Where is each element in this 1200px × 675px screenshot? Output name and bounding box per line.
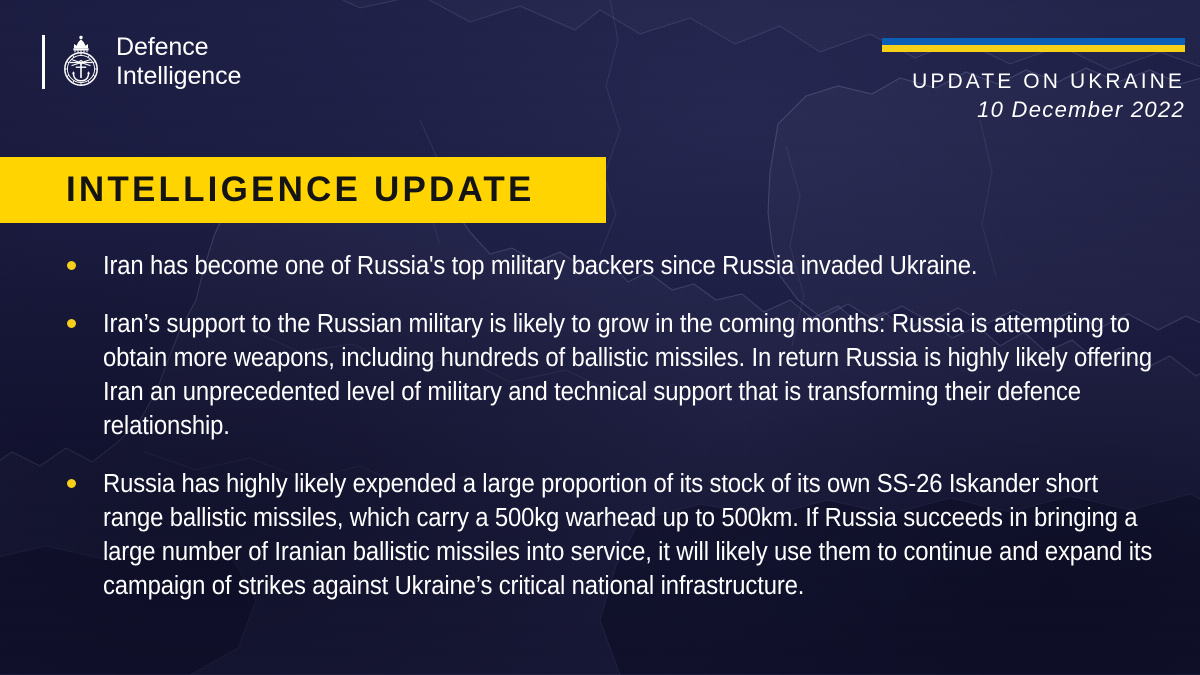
bullet-text: Iran’s support to the Russian military i… [103, 307, 1152, 443]
brand-wordmark: Defence Intelligence [116, 33, 241, 91]
mod-defence-intelligence-crest-icon [59, 33, 103, 89]
intelligence-update-banner: INTELLIGENCE UPDATE [0, 157, 606, 223]
bullet-text: Iran has become one of Russia's top mili… [103, 249, 1152, 283]
list-item: Iran has become one of Russia's top mili… [62, 249, 1152, 283]
intelligence-update-poster: Defence Intelligence UPDATE ON UKRAINE 1… [0, 0, 1200, 675]
update-on-ukraine-title: UPDATE ON UKRAINE [545, 68, 1185, 95]
bullet-dot-icon [67, 319, 76, 328]
banner-label: INTELLIGENCE UPDATE [66, 170, 535, 210]
brand-lockup: Defence Intelligence [42, 33, 241, 91]
list-item: Iran’s support to the Russian military i… [62, 307, 1152, 443]
flag-stripe-yellow [882, 45, 1185, 52]
brand-line-defence: Defence [116, 33, 241, 62]
list-item: Russia has highly likely expended a larg… [62, 467, 1152, 603]
brand-line-intelligence: Intelligence [116, 62, 241, 91]
flag-stripe-blue [882, 38, 1185, 45]
bullet-text: Russia has highly likely expended a larg… [103, 467, 1152, 603]
bullet-dot-icon [67, 479, 76, 488]
update-header-block: UPDATE ON UKRAINE 10 December 2022 [545, 68, 1185, 125]
bullet-list: Iran has become one of Russia's top mili… [62, 249, 1152, 603]
ukraine-flag-bar-icon [882, 38, 1185, 52]
brand-divider-rule [42, 35, 45, 89]
update-date: 10 December 2022 [545, 95, 1185, 125]
bullet-dot-icon [67, 261, 76, 270]
